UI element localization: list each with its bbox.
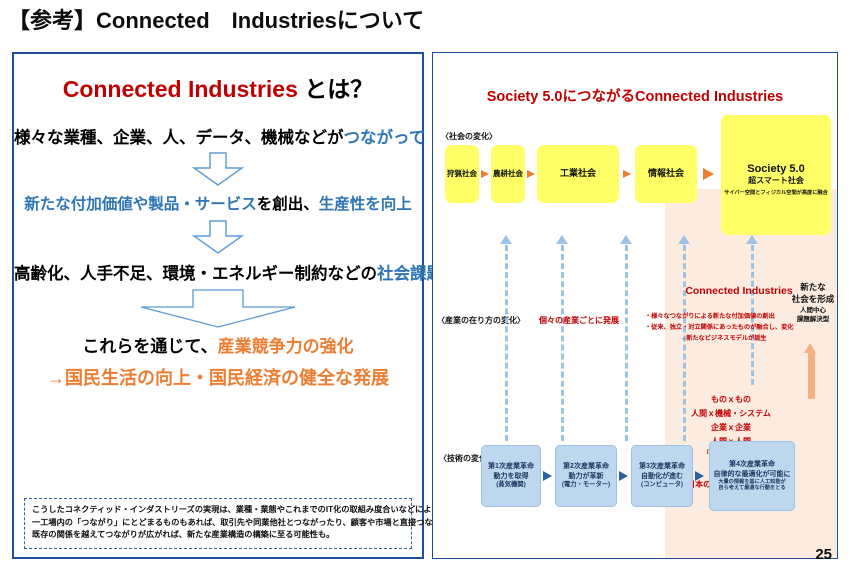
left-conclusion-1: これらを通じて、産業競争力の強化	[14, 332, 422, 357]
blue-arrow-icon-2	[619, 471, 628, 481]
revolution-1-line2: 動力を取得	[494, 472, 529, 481]
new-society-sub1: 人間中心	[785, 306, 838, 316]
revolution-3-line2: 自動化が進む	[641, 472, 683, 481]
note-line-1: こうしたコネクティッド・インダストリーズの実現は、業種・業態やこれまでのIT化の…	[32, 504, 405, 517]
society-box-industrial-label: 工業社会	[560, 168, 596, 179]
note-line-3: 既存の関係を越えてつながりが広がれば、新たな産業構造の構築に至る可能性も。	[32, 529, 405, 542]
revolution-1-line3: (蒸気機関)	[496, 481, 525, 489]
new-society-sub2: 課題解決型	[785, 315, 838, 325]
ci-pair-1: ものｘもの	[647, 393, 815, 407]
up-arrow-icon-2	[620, 235, 632, 244]
left-step-3-black: 高齢化、人手不足、環境・エネルギー制約などの	[14, 265, 377, 283]
arrow-icon-3	[623, 170, 631, 178]
society-box-information: 情報社会	[635, 145, 697, 203]
revolution-box-2: 第2次産業革命 動力が革新 (電力・モーター)	[555, 445, 617, 507]
revolution-3-line1: 第3次産業革命	[639, 462, 685, 471]
note-box: こうしたコネクティッド・インダストリーズの実現は、業種・業態やこれまでのIT化の…	[24, 498, 412, 549]
society-5-title: Society 5.0	[747, 163, 804, 175]
society-5-detail: サイバー空間とフィジカル空間が高度に融合	[724, 190, 828, 196]
society-box-information-label: 情報社会	[648, 168, 684, 179]
left-conclusion-1-orange: 産業競争力の強化	[218, 337, 354, 356]
up-arrow-icon-0	[500, 235, 512, 244]
left-step-3: 高齢化、人手不足、環境・エネルギー制約などの社会課題を解決	[14, 260, 422, 284]
arrow-icon-4	[703, 168, 714, 180]
left-step-2-black: を創出、	[257, 196, 319, 213]
revolution-box-4: 第4次産業革命 自律的な最適化が可能に 大量の情報を基に人工知能が 自ら考えて最…	[709, 441, 795, 511]
revolution-2-line3: (電力・モーター)	[562, 481, 610, 489]
dashed-connector-0	[505, 245, 508, 441]
left-step-2: 新たな付加価値や製品・サービスを創出、生産性を向上	[14, 192, 422, 214]
left-panel: Connected Industries とは？ 様々な業種、企業、人、データ、…	[12, 52, 424, 559]
ci-pair-3: 企業ｘ企業	[647, 421, 815, 435]
society-box-agriculture: 農耕社会	[491, 145, 525, 203]
ci-pair-2: 人間ｘ機械・システム	[647, 407, 815, 421]
society-5-subtitle: 超スマート社会	[748, 175, 804, 186]
left-heading-black: とは？	[298, 76, 373, 102]
row-label-industry: 〈産業の在り方の変化〉	[437, 315, 525, 326]
revolution-2-line2: 動力が革新	[569, 472, 604, 481]
up-arrow-icon-orange	[804, 343, 816, 353]
row-label-society: 〈社会の変化〉	[441, 131, 497, 142]
blue-arrow-icon-3	[695, 471, 704, 481]
left-step-2-blue2: 生産性を向上	[319, 196, 412, 213]
down-arrow-icon-3-wide	[138, 289, 298, 329]
ci-bullet-1: ・様々なつながりによる新たな付加価値の創出	[645, 311, 775, 320]
society-5-box: Society 5.0 超スマート社会 サイバー空間とフィジカル空間が高度に融合	[721, 115, 831, 235]
up-arrow-icon-3	[678, 235, 690, 244]
left-step-1: 様々な業種、企業、人、データ、機械などがつながって	[14, 124, 422, 148]
dashed-connector-2	[625, 245, 628, 441]
revolution-box-1: 第1次産業革命 動力を取得 (蒸気機関)	[481, 445, 541, 507]
revolution-4-line2: 自律的な最適化が可能に	[714, 470, 791, 479]
left-heading-red: Connected Industries	[63, 76, 298, 102]
page-number: 25	[815, 546, 832, 563]
arrow-icon-2	[527, 170, 535, 178]
page-title: 【参考】Connected Industriesについて	[8, 3, 424, 35]
left-step-2-blue1: 新たな付加価値や製品・サービス	[24, 196, 257, 213]
industry-note: 個々の産業ごとに発展	[539, 315, 619, 326]
society-box-hunting-label: 狩猟社会	[447, 169, 477, 178]
note-line-2: 一工場内の「つながり」にとどまるものもあれば、取引先や同業他社とつながったり、顧…	[32, 517, 405, 530]
right-panel-title: Society 5.0につながるConnected Industries	[433, 85, 837, 106]
left-step-1-blue: つながって	[344, 129, 426, 147]
up-arrow-icon-4	[746, 235, 758, 244]
revolution-4-line1: 第4次産業革命	[729, 460, 775, 469]
new-society-line1: 新たな	[785, 281, 838, 293]
society-box-industrial: 工業社会	[537, 145, 619, 203]
right-panel: Society 5.0につながるConnected Industries 〈社会…	[432, 52, 838, 559]
revolution-1-line1: 第1次産業革命	[488, 462, 534, 471]
revolution-3-line3: (コンピュータ)	[641, 481, 683, 489]
blue-arrow-icon-1	[543, 471, 552, 481]
society-box-hunting: 狩猟社会	[445, 145, 479, 203]
left-conclusion-2: →国民生活の向上・国民経済の健全な発展	[14, 364, 422, 390]
orange-connector-bar	[808, 353, 815, 399]
arrow-icon-1	[481, 170, 489, 178]
down-arrow-icon-1	[191, 152, 245, 186]
revolution-2-line1: 第2次産業革命	[563, 462, 609, 471]
dashed-connector-1	[561, 245, 564, 441]
revolution-4-line4: 大量の情報を基に人工知能が 自ら考えて最適な行動をとる	[718, 479, 785, 492]
left-conclusion-1-black: これらを通じて、	[82, 337, 217, 356]
new-society-line2: 社会を形成	[785, 293, 838, 305]
ci-bullet-2: ・従来、独立・対立関係にあったものが融合し、変化	[645, 322, 794, 331]
society-box-agriculture-label: 農耕社会	[493, 169, 523, 178]
revolution-box-3: 第3次産業革命 自動化が進む (コンピュータ)	[631, 445, 693, 507]
left-panel-heading: Connected Industries とは？	[14, 70, 422, 104]
down-arrow-icon-2	[191, 220, 245, 254]
left-step-1-black: 様々な業種、企業、人、データ、機械などが	[14, 129, 344, 147]
ci-result: →新たなビジネスモデルが誕生	[680, 333, 767, 342]
up-arrow-icon-1	[556, 235, 568, 244]
left-conclusion-2-orange: →国民生活の向上・国民経済の健全な発展	[47, 368, 389, 388]
new-society-block: 新たな 社会を形成 人間中心 課題解決型	[785, 281, 838, 325]
slide: 【参考】Connected Industriesについて Connected I…	[0, 0, 850, 571]
